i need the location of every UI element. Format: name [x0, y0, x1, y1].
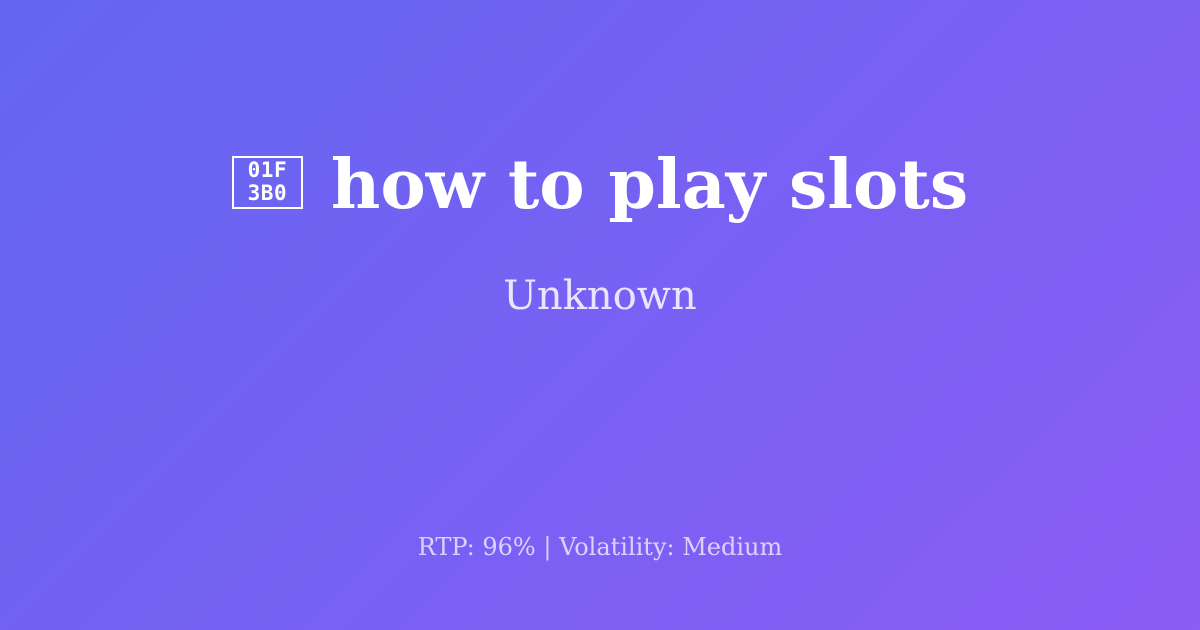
- title-row: 01F 3B0 how to play slots: [60, 150, 1140, 221]
- provider-subtitle: Unknown: [503, 272, 697, 320]
- codepoint-line-1: 01F: [248, 160, 287, 183]
- codepoint-line-2: 3B0: [248, 183, 287, 206]
- hero-block: 01F 3B0 how to play slots Unknown: [0, 0, 1200, 470]
- game-meta-line: RTP: 96% | Volatility: Medium: [418, 533, 783, 562]
- og-share-card: 01F 3B0 how to play slots Unknown RTP: 9…: [0, 0, 1200, 630]
- slot-machine-emoji-icon: 01F 3B0: [232, 156, 303, 209]
- page-title: how to play slots: [331, 150, 968, 221]
- footer: RTP: 96% | Volatility: Medium: [0, 533, 1200, 562]
